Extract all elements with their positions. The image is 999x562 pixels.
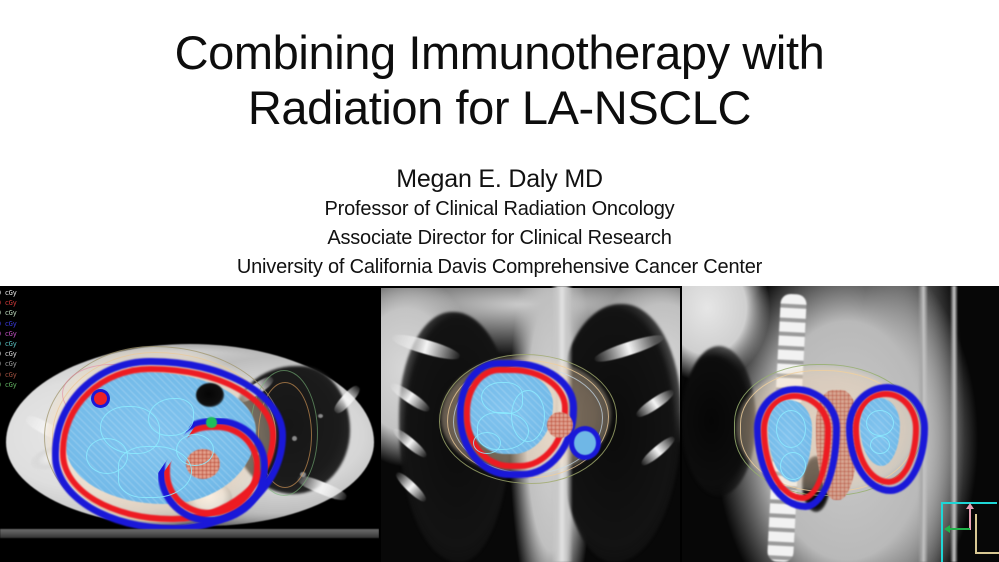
- axial-ct-panel: ,0 cGy ,0 cGy ,0 cGy ,0 cGy ,0 cGy ,0 cG…: [0, 286, 379, 562]
- page-title: Combining Immunotherapy with Radiation f…: [0, 26, 999, 135]
- coronal-ct-panel: [381, 286, 680, 562]
- axial-air-cavity: [196, 383, 224, 407]
- sagittal-ct-canvas: [682, 286, 999, 562]
- dose-legend-row: ,0 cGy: [0, 329, 40, 339]
- axial-marker-red: [94, 392, 107, 405]
- axial-treatment-couch: [0, 529, 379, 538]
- sagittal-structure-contour: [780, 452, 806, 480]
- affiliation-line-1: Professor of Clinical Radiation Oncology: [0, 195, 999, 224]
- dose-legend-row: ,0 cGy: [0, 308, 40, 318]
- sagittal-ct-panel: [682, 286, 999, 562]
- dose-legend-row: ,0 cGy: [0, 339, 40, 349]
- affiliation-line-2: Associate Director for Clinical Research: [0, 224, 999, 253]
- dose-legend-row: ,0 cGy: [0, 370, 40, 380]
- dose-legend-row: ,0 cGy: [0, 380, 40, 390]
- axial-structure-contour: [86, 438, 128, 474]
- coronal-structure-contour: [511, 390, 545, 442]
- axial-vessel-speck: [318, 414, 323, 418]
- anterior-axis-line-icon: [975, 514, 977, 554]
- presenter-name: Megan E. Daly MD: [0, 163, 999, 195]
- axial-ct-canvas: [0, 286, 379, 562]
- left-axis-arrow-icon: [950, 528, 970, 530]
- anterior-axis-line-icon: [975, 552, 999, 554]
- sagittal-structure-contour: [870, 436, 890, 454]
- affiliation-line-3: University of California Davis Comprehen…: [0, 253, 999, 282]
- axial-marker-green: [206, 417, 217, 428]
- orientation-axes-widget: [941, 502, 997, 562]
- subtitle-block: Megan E. Daly MD Professor of Clinical R…: [0, 163, 999, 282]
- coronal-structure-contour: [473, 432, 501, 454]
- ct-image-strip: ,0 cGy ,0 cGy ,0 cGy ,0 cGy ,0 cGy ,0 cG…: [0, 286, 999, 562]
- sagittal-structure-contour: [866, 410, 894, 436]
- coronal-nodal-target: [569, 426, 601, 460]
- presentation-slide: Combining Immunotherapy with Radiation f…: [0, 0, 999, 562]
- sagittal-structure-contour: [776, 410, 806, 448]
- dose-legend-row: ,0 cGy: [0, 298, 40, 308]
- dose-legend-row: ,0 cGy: [0, 349, 40, 359]
- axial-structure-contour: [148, 398, 194, 436]
- coronal-ct-canvas: [381, 286, 680, 562]
- dose-legend-row: ,0 cGy: [0, 319, 40, 329]
- superior-axis-arrow-icon: [969, 508, 971, 530]
- dose-legend-row: ,0 cGy: [0, 288, 40, 298]
- dose-legend: ,0 cGy ,0 cGy ,0 cGy ,0 cGy ,0 cGy ,0 cG…: [0, 288, 40, 390]
- coronal-hotspot-region: [547, 412, 573, 438]
- title-block: Combining Immunotherapy with Radiation f…: [0, 26, 999, 135]
- dose-legend-row: ,0 cGy: [0, 359, 40, 369]
- axial-structure-contour: [176, 434, 214, 466]
